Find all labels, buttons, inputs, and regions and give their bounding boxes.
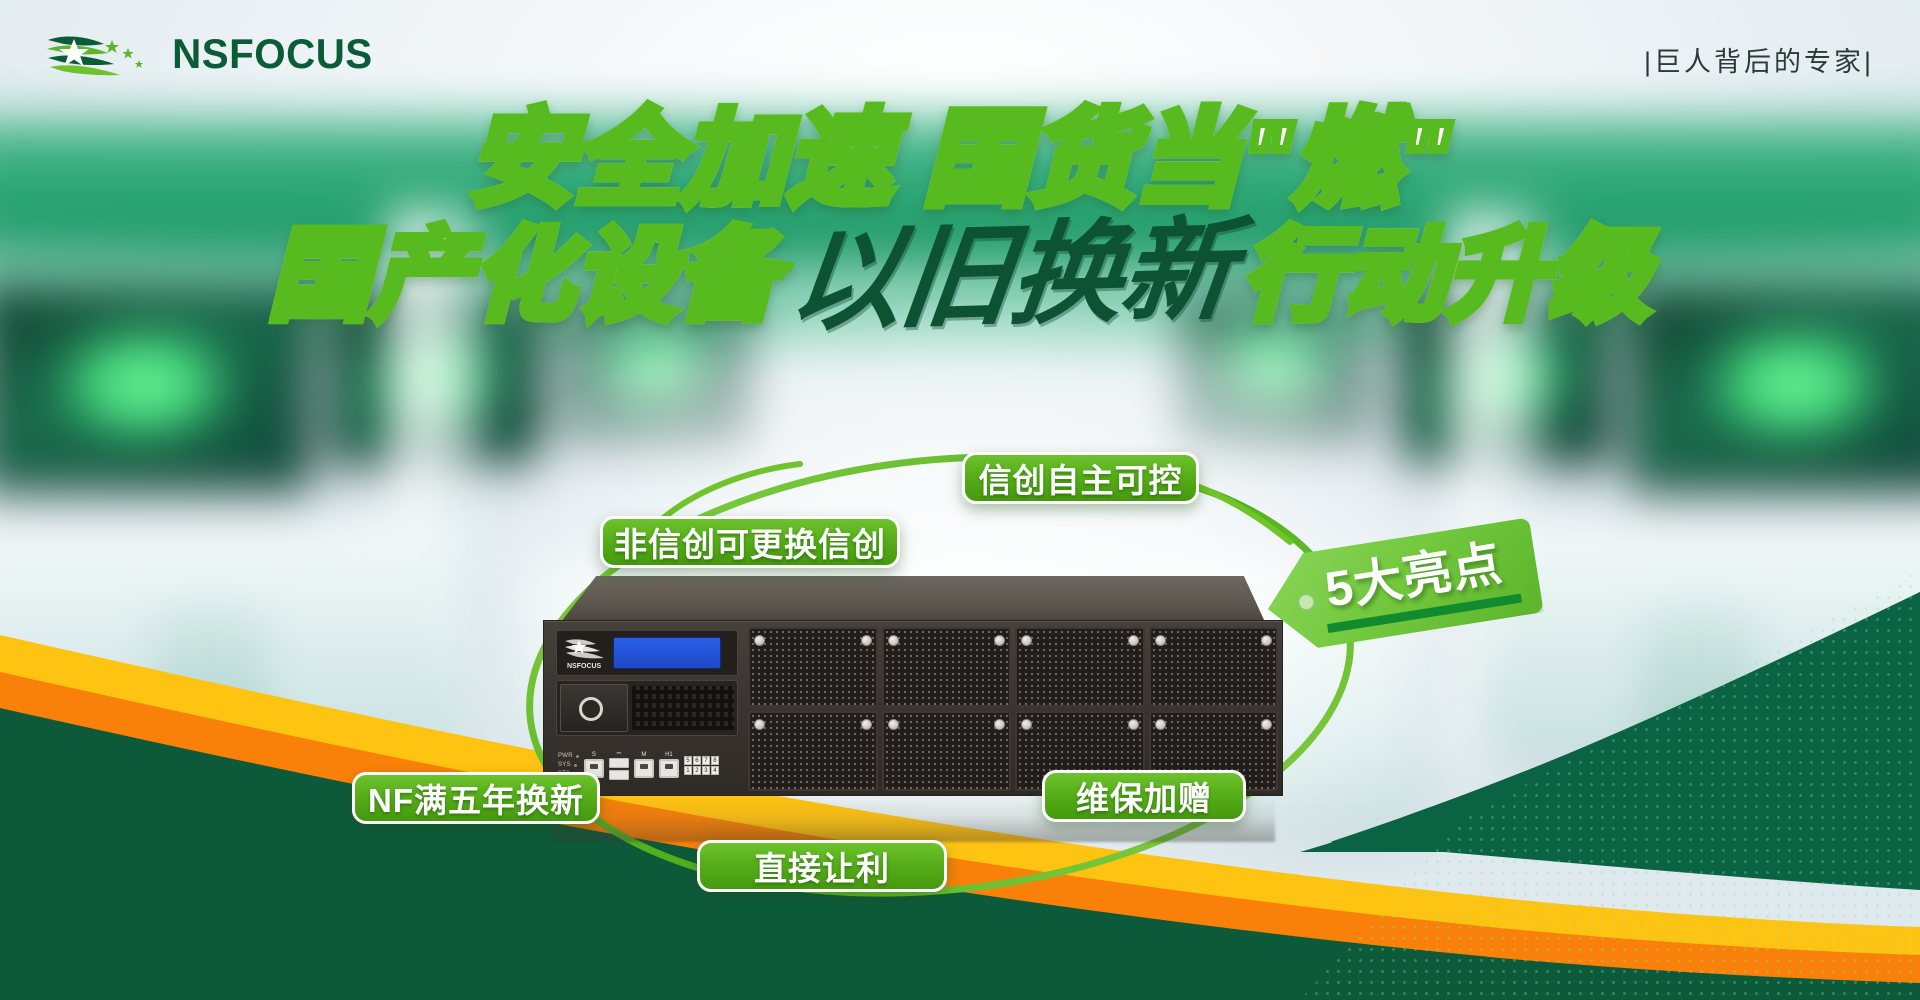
feature-badge-direct-discount[interactable]: 直接让利 <box>697 840 947 892</box>
bay-screw-icon <box>1261 719 1272 730</box>
drive-bay-lock-icon <box>579 697 603 721</box>
headline-line-2-left: 国产化设备 <box>269 226 779 326</box>
server-nsfocus-logo-icon: NSFOCUS <box>562 636 608 670</box>
svg-text:NSFOCUS: NSFOCUS <box>567 663 602 670</box>
server-usb-icon: ⎓ <box>617 751 622 757</box>
server-lcd-screen <box>613 637 721 669</box>
banner-canvas: NSFOCUS |巨人背后的专家| 安全加速 国货当"燃" 国产化设备 以旧换新… <box>0 0 1920 1000</box>
feature-badge-non-xinchuang-replace[interactable]: 非信创可更换信创 <box>600 516 900 568</box>
headline-line-2: 国产化设备 以旧换新 行动升级 <box>0 220 1920 332</box>
bay-screw-icon <box>1128 635 1139 646</box>
bay-screw-icon <box>994 635 1005 646</box>
bay-screw-icon <box>888 719 899 730</box>
brand-logo[interactable]: NSFOCUS <box>42 30 377 78</box>
drive-bay-slot <box>882 627 1012 707</box>
server-port-m <box>634 759 654 778</box>
server-port-numbers-top: 5 6 7 8 <box>684 756 719 765</box>
headline-block: 安全加速 国货当"燃" 国产化设备 以旧换新 行动升级 <box>0 108 1920 332</box>
server-port-number-block: 5 6 7 8 1 2 3 4 <box>684 756 719 775</box>
feature-badge-nf-five-year-renew[interactable]: NF满五年换新 <box>352 772 600 824</box>
server-display-row: NSFOCUS <box>556 630 738 676</box>
port-number-5: 5 <box>684 756 692 765</box>
server-usb-ports <box>609 758 629 780</box>
server-port-m-label: M <box>641 752 646 758</box>
drive-bay-slot <box>1015 627 1145 707</box>
headline-line-1-text: 安全加速 国货当"燃" <box>469 102 1451 218</box>
server-control-panel: NSFOCUS PWR <box>552 626 742 792</box>
port-number-8: 8 <box>711 756 719 765</box>
drive-bay-handle <box>560 684 628 732</box>
server-port-s-label: S <box>592 752 596 758</box>
bay-screw-icon <box>861 635 872 646</box>
bay-screw-icon <box>1021 719 1032 730</box>
drive-bay-vent-grille <box>632 686 734 730</box>
led-sys: SYS <box>558 762 579 768</box>
server-drive-bay-grid <box>748 627 1278 791</box>
feature-badge-xinchuang-autonomous[interactable]: 信创自主可控 <box>962 452 1199 504</box>
brand-logo-text: NSFOCUS <box>172 30 373 78</box>
port-number-2: 2 <box>693 766 701 775</box>
drive-bay-slot <box>748 711 878 791</box>
bay-screw-icon <box>1021 635 1032 646</box>
server-removable-drive-bay <box>556 680 738 736</box>
nsfocus-flag-stars-logo-icon <box>42 30 154 78</box>
bay-screw-icon <box>754 719 765 730</box>
bay-screw-icon <box>1155 719 1166 730</box>
drive-bay-slot <box>1149 627 1279 707</box>
port-number-6: 6 <box>693 756 701 765</box>
led-sys-label: SYS <box>558 762 571 768</box>
server-top-panel <box>561 576 1265 622</box>
headline-line-2-right: 行动升级 <box>1243 226 1651 326</box>
bay-screw-icon <box>1128 719 1139 730</box>
brand-tagline: |巨人背后的专家| <box>1644 40 1874 79</box>
drive-bay-slot <box>882 711 1012 791</box>
port-number-4: 4 <box>711 766 719 775</box>
port-number-7: 7 <box>702 756 710 765</box>
server-port-numbers-bottom: 1 2 3 4 <box>684 766 719 775</box>
headline-brush-phrase: 以旧换新 <box>776 214 1246 338</box>
server-port-h1-label: H1 <box>665 752 673 758</box>
led-pwr: PWR <box>558 753 579 759</box>
drive-bay-slot <box>748 627 878 707</box>
server-usb-port-2 <box>609 770 629 780</box>
bay-screw-icon <box>861 719 872 730</box>
bay-screw-icon <box>994 719 1005 730</box>
feature-badge-maintenance-bonus[interactable]: 维保加赠 <box>1042 770 1246 822</box>
bay-screw-icon <box>1261 635 1272 646</box>
led-sys-indicator <box>574 764 577 767</box>
server-port-h1-group: H1 <box>659 752 679 778</box>
led-pwr-indicator <box>576 755 579 758</box>
server-port-m-group: M <box>634 752 654 778</box>
bay-screw-icon <box>888 635 899 646</box>
port-number-1: 1 <box>684 766 692 775</box>
server-usb-port-1 <box>609 758 629 768</box>
headline-line-1: 安全加速 国货当"燃" <box>0 108 1920 212</box>
port-number-3: 3 <box>702 766 710 775</box>
server-usb-group: ⎓ <box>609 751 629 780</box>
server-port-h1 <box>659 759 679 778</box>
bay-screw-icon <box>1155 635 1166 646</box>
bay-screw-icon <box>754 635 765 646</box>
led-pwr-label: PWR <box>558 753 573 759</box>
